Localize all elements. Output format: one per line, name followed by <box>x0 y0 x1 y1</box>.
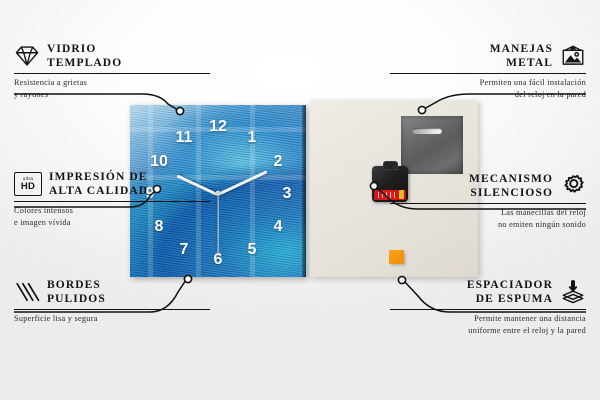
clock-numeral-1: 1 <box>248 130 257 146</box>
feature-divider <box>14 201 210 203</box>
clock-numeral-2: 2 <box>274 154 283 170</box>
infographic-canvas: 12 1 2 3 4 5 6 7 8 9 10 11 <box>0 0 600 400</box>
diagonal-lines-icon <box>14 279 40 305</box>
feature-impresion-alta-calidad: ultra HD IMPRESIÓN DE ALTA CALIDAD Color… <box>14 170 210 229</box>
label-tick <box>386 192 387 198</box>
feature-divider <box>14 309 210 311</box>
feature-divider <box>390 203 586 205</box>
clock-numeral-4: 4 <box>274 219 283 235</box>
feature-vidrio-templado: VIDRIO TEMPLADO Resistencia a grietas y … <box>14 42 210 101</box>
feature-header: MECANISMO SILENCIOSO <box>390 172 586 201</box>
feature-title: MECANISMO SILENCIOSO <box>469 172 553 201</box>
clock-numeral-7: 7 <box>180 242 189 258</box>
feature-description: Resistencia a grietas y rayones <box>14 77 210 101</box>
clock-numeral-3: 3 <box>283 186 292 202</box>
feature-manejas-metal: MANEJAS METAL Permiten una fácil instala… <box>390 42 586 101</box>
label-tick <box>382 192 383 198</box>
clock-numeral-5: 5 <box>248 242 257 258</box>
clock-numeral-12: 12 <box>209 119 227 135</box>
clock-center-pin <box>216 191 221 196</box>
feature-header: MANEJAS METAL <box>390 42 586 71</box>
feature-description: Permiten una fácil instalación del reloj… <box>390 77 586 101</box>
metal-hanger-plate <box>401 116 463 174</box>
feature-description: Las manecillas del reloj no emiten ningú… <box>390 207 586 231</box>
ultra-hd-icon: ultra HD <box>14 172 42 196</box>
clock-numeral-11: 11 <box>176 130 193 146</box>
feature-bordes-pulidos: BORDES PULIDOS Superficie lisa y segura <box>14 278 210 325</box>
foam-spacer-pad <box>389 250 404 264</box>
feature-header: VIDRIO TEMPLADO <box>14 42 210 71</box>
feature-title: BORDES PULIDOS <box>47 278 106 307</box>
diamond-icon <box>14 43 40 69</box>
clock-numeral-10: 10 <box>150 154 168 170</box>
feature-header: ESPACIADOR DE ESPUMA <box>390 278 586 307</box>
feature-divider <box>14 73 210 75</box>
feature-title: ESPACIADOR DE ESPUMA <box>467 278 553 307</box>
glass-right-edge <box>302 105 306 277</box>
feature-title: VIDRIO TEMPLADO <box>47 42 122 71</box>
feature-title: IMPRESIÓN DE ALTA CALIDAD <box>49 170 148 199</box>
feature-espaciador-de-espuma: ESPACIADOR DE ESPUMA Permite mantener un… <box>390 278 586 337</box>
feature-divider <box>390 309 586 311</box>
feature-divider <box>390 73 586 75</box>
label-tick <box>378 192 379 198</box>
feature-description: Superficie lisa y segura <box>14 313 210 325</box>
hanger-slot <box>412 128 442 134</box>
mechanism-shaft <box>383 161 398 170</box>
clock-second-hand <box>217 194 218 256</box>
picture-frame-hanging-icon <box>560 43 586 69</box>
feature-description: Permite mantener una distancia uniforme … <box>390 313 586 337</box>
gear-icon <box>560 173 586 199</box>
feature-description: Colores intensos e imagen vívida <box>14 205 210 229</box>
arrow-into-layers-icon <box>560 279 586 305</box>
feature-header: ultra HD IMPRESIÓN DE ALTA CALIDAD <box>14 170 210 199</box>
feature-mecanismo-silencioso: MECANISMO SILENCIOSO Las manecillas del … <box>390 172 586 231</box>
feature-header: BORDES PULIDOS <box>14 278 210 307</box>
feature-title: MANEJAS METAL <box>490 42 553 71</box>
